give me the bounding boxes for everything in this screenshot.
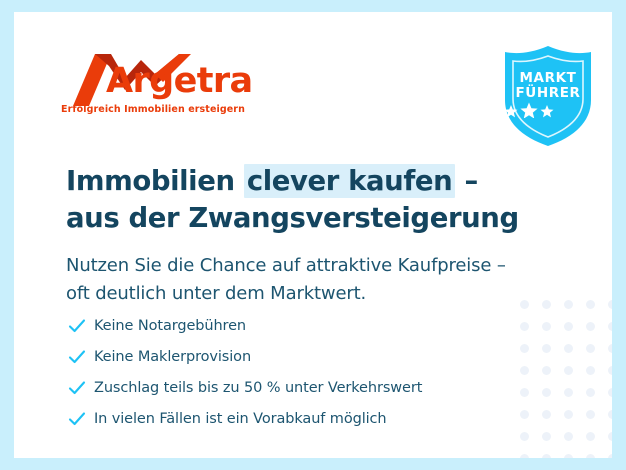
list-item: Keine Maklerprovision bbox=[68, 341, 528, 372]
list-item: In vielen Fällen ist ein Vorabkauf mögli… bbox=[68, 403, 528, 434]
dot bbox=[542, 432, 551, 441]
check-icon bbox=[68, 379, 94, 397]
dot bbox=[564, 388, 573, 397]
dot-grid-decoration bbox=[520, 300, 612, 458]
dot bbox=[542, 322, 551, 331]
dot bbox=[564, 432, 573, 441]
headline: Immobilien clever kaufen – aus der Zwang… bbox=[66, 163, 586, 236]
list-item-label: Zuschlag teils bis zu 50 % unter Verkehr… bbox=[94, 380, 422, 396]
banner-card: Argetra Erfolgreich Immobilien ersteiger… bbox=[14, 12, 612, 458]
subheadline-line-2: oft deutlich unter dem Marktwert. bbox=[66, 280, 586, 308]
dot bbox=[586, 322, 595, 331]
argetra-logo[interactable]: Argetra Erfolgreich Immobilien ersteiger… bbox=[59, 52, 259, 120]
dot bbox=[608, 322, 612, 331]
dot bbox=[542, 344, 551, 353]
badge-stars bbox=[501, 102, 595, 118]
dot bbox=[608, 454, 612, 458]
dot bbox=[542, 388, 551, 397]
dot bbox=[520, 454, 529, 458]
market-leader-badge: MARKT FÜHRER bbox=[501, 44, 595, 148]
logo-tagline: Erfolgreich Immobilien ersteigern bbox=[61, 104, 245, 115]
badge-line-1: MARKT bbox=[501, 70, 595, 86]
subheadline: Nutzen Sie die Chance auf attraktive Kau… bbox=[66, 252, 586, 308]
dot bbox=[586, 366, 595, 375]
headline-part-after: – bbox=[455, 165, 478, 197]
headline-part-before: Immobilien bbox=[66, 165, 244, 197]
logo-wordmark: Argetra bbox=[106, 64, 253, 99]
dot bbox=[608, 344, 612, 353]
dot bbox=[586, 344, 595, 353]
subheadline-line-1: Nutzen Sie die Chance auf attraktive Kau… bbox=[66, 252, 586, 280]
headline-line-2: aus der Zwangsversteigerung bbox=[66, 200, 586, 236]
dot bbox=[608, 388, 612, 397]
dot bbox=[586, 388, 595, 397]
list-item-label: Keine Maklerprovision bbox=[94, 349, 251, 365]
check-icon bbox=[68, 410, 94, 428]
check-icon bbox=[68, 348, 94, 366]
dot bbox=[542, 454, 551, 458]
check-icon bbox=[68, 317, 94, 335]
benefits-checklist: Keine Notargebühren Keine Maklerprovisio… bbox=[68, 310, 528, 434]
dot bbox=[608, 432, 612, 441]
dot bbox=[586, 300, 595, 309]
headline-line-1: Immobilien clever kaufen – bbox=[66, 163, 586, 199]
list-item-label: In vielen Fällen ist ein Vorabkauf mögli… bbox=[94, 411, 387, 427]
list-item: Keine Notargebühren bbox=[68, 310, 528, 341]
headline-highlight: clever kaufen bbox=[244, 164, 456, 198]
dot bbox=[564, 454, 573, 458]
dot bbox=[564, 366, 573, 375]
dot bbox=[586, 432, 595, 441]
dot bbox=[586, 410, 595, 419]
dot bbox=[542, 366, 551, 375]
list-item: Zuschlag teils bis zu 50 % unter Verkehr… bbox=[68, 372, 528, 403]
dot bbox=[564, 344, 573, 353]
dot bbox=[586, 454, 595, 458]
list-item-label: Keine Notargebühren bbox=[94, 318, 246, 334]
dot bbox=[564, 322, 573, 331]
promo-banner: Argetra Erfolgreich Immobilien ersteiger… bbox=[0, 0, 626, 470]
dot bbox=[608, 300, 612, 309]
dot bbox=[608, 366, 612, 375]
dot bbox=[608, 410, 612, 419]
dot bbox=[564, 410, 573, 419]
dot bbox=[542, 410, 551, 419]
badge-line-2: FÜHRER bbox=[501, 85, 595, 101]
